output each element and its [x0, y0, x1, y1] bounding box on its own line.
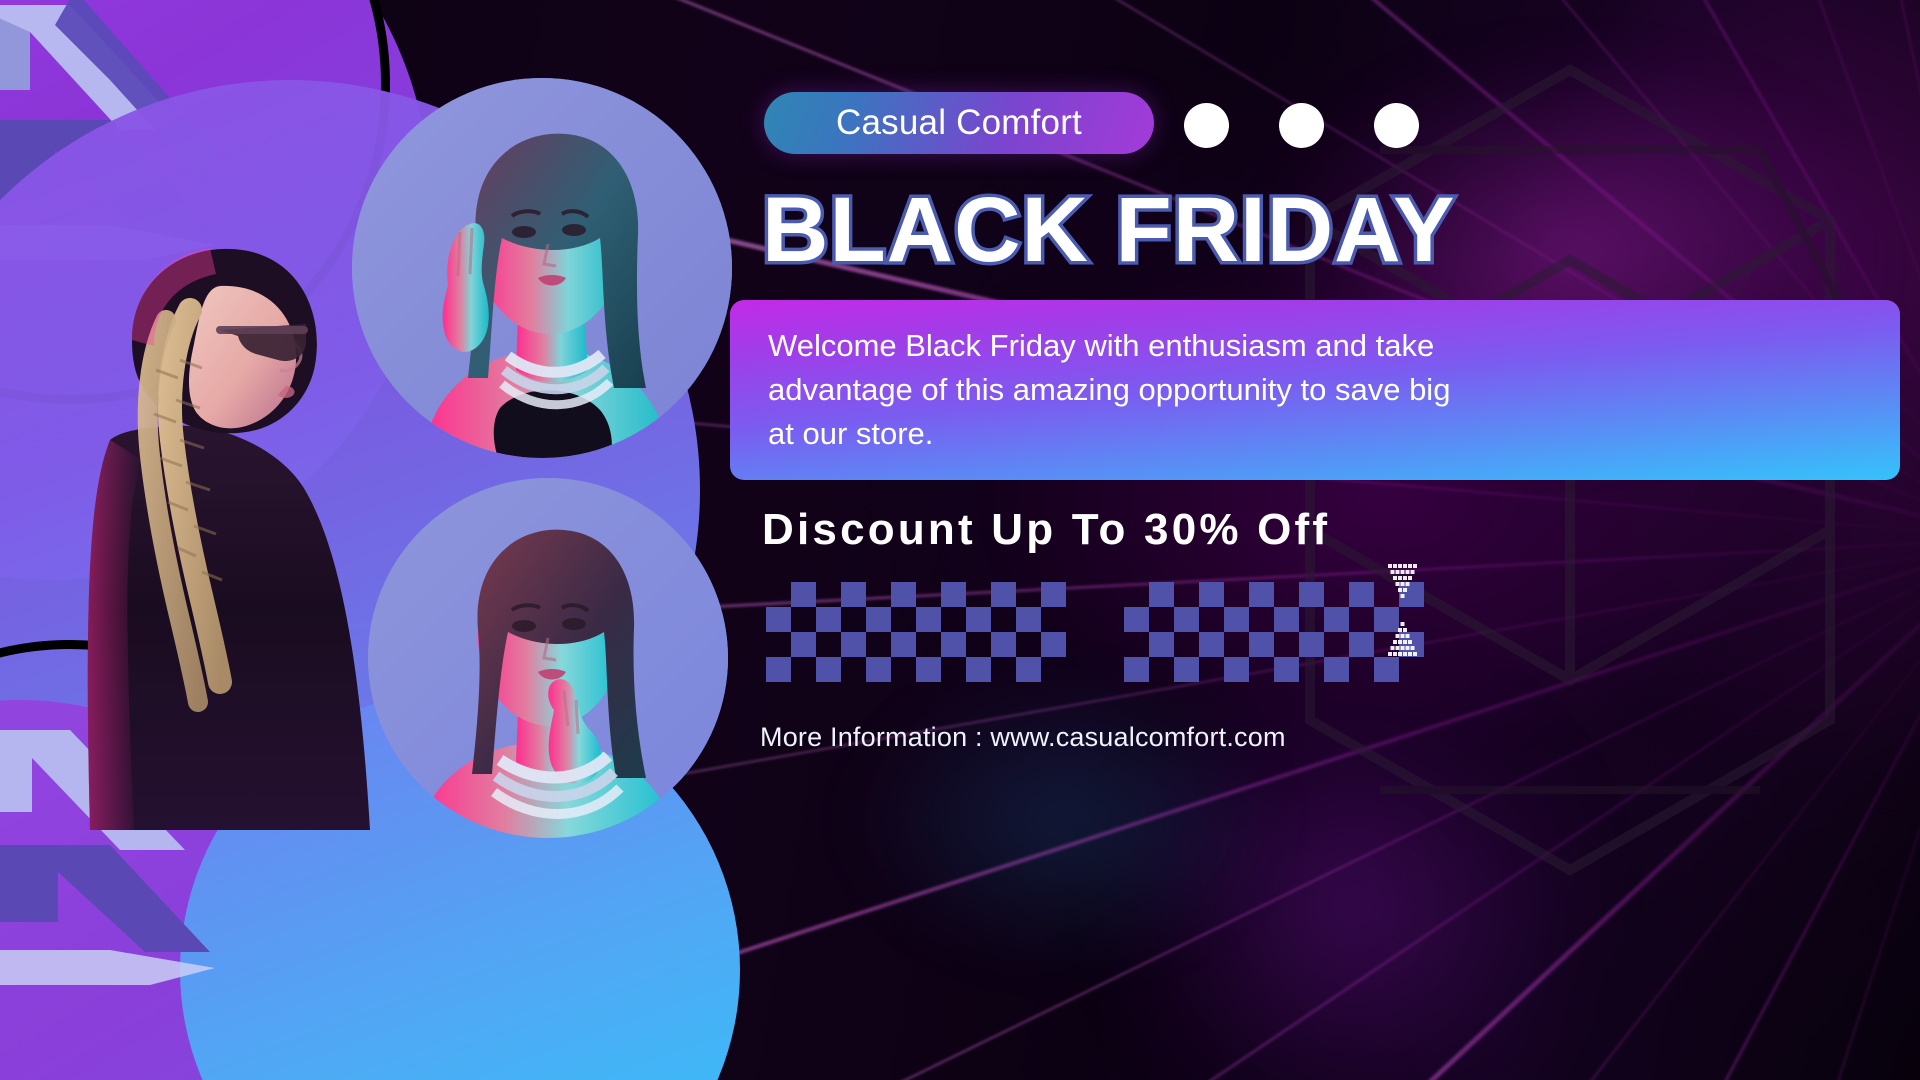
dot-2	[1279, 103, 1324, 148]
model-portrait-top	[352, 78, 732, 458]
dot-1	[1184, 103, 1229, 148]
decorative-dots	[1184, 103, 1419, 148]
promo-description-text: Welcome Black Friday with enthusiasm and…	[730, 324, 1490, 456]
checkerboard-block-1	[766, 582, 1066, 682]
model-hooded-side-profile	[70, 190, 400, 830]
checkerboard-pattern	[766, 582, 1424, 682]
dot-3	[1374, 103, 1419, 148]
page-title: BLACK FRIDAY	[762, 182, 1872, 279]
banner-canvas: Casual Comfort BLACK FRIDAY Welcome Blac…	[0, 0, 1920, 1080]
left-decorative-art	[0, 0, 760, 1080]
content-column: Casual Comfort BLACK FRIDAY Welcome Blac…	[756, 0, 1920, 1080]
promo-description-panel: Welcome Black Friday with enthusiasm and…	[730, 300, 1900, 480]
brand-badge-label: Casual Comfort	[836, 103, 1082, 143]
discount-headline: Discount Up To 30% Off	[762, 505, 1330, 555]
more-information-text: More Information : www.casualcomfort.com	[760, 722, 1286, 753]
brand-badge[interactable]: Casual Comfort	[764, 92, 1154, 154]
dotted-diamond-icon	[1368, 562, 1438, 682]
model-portrait-bottom	[368, 478, 728, 838]
